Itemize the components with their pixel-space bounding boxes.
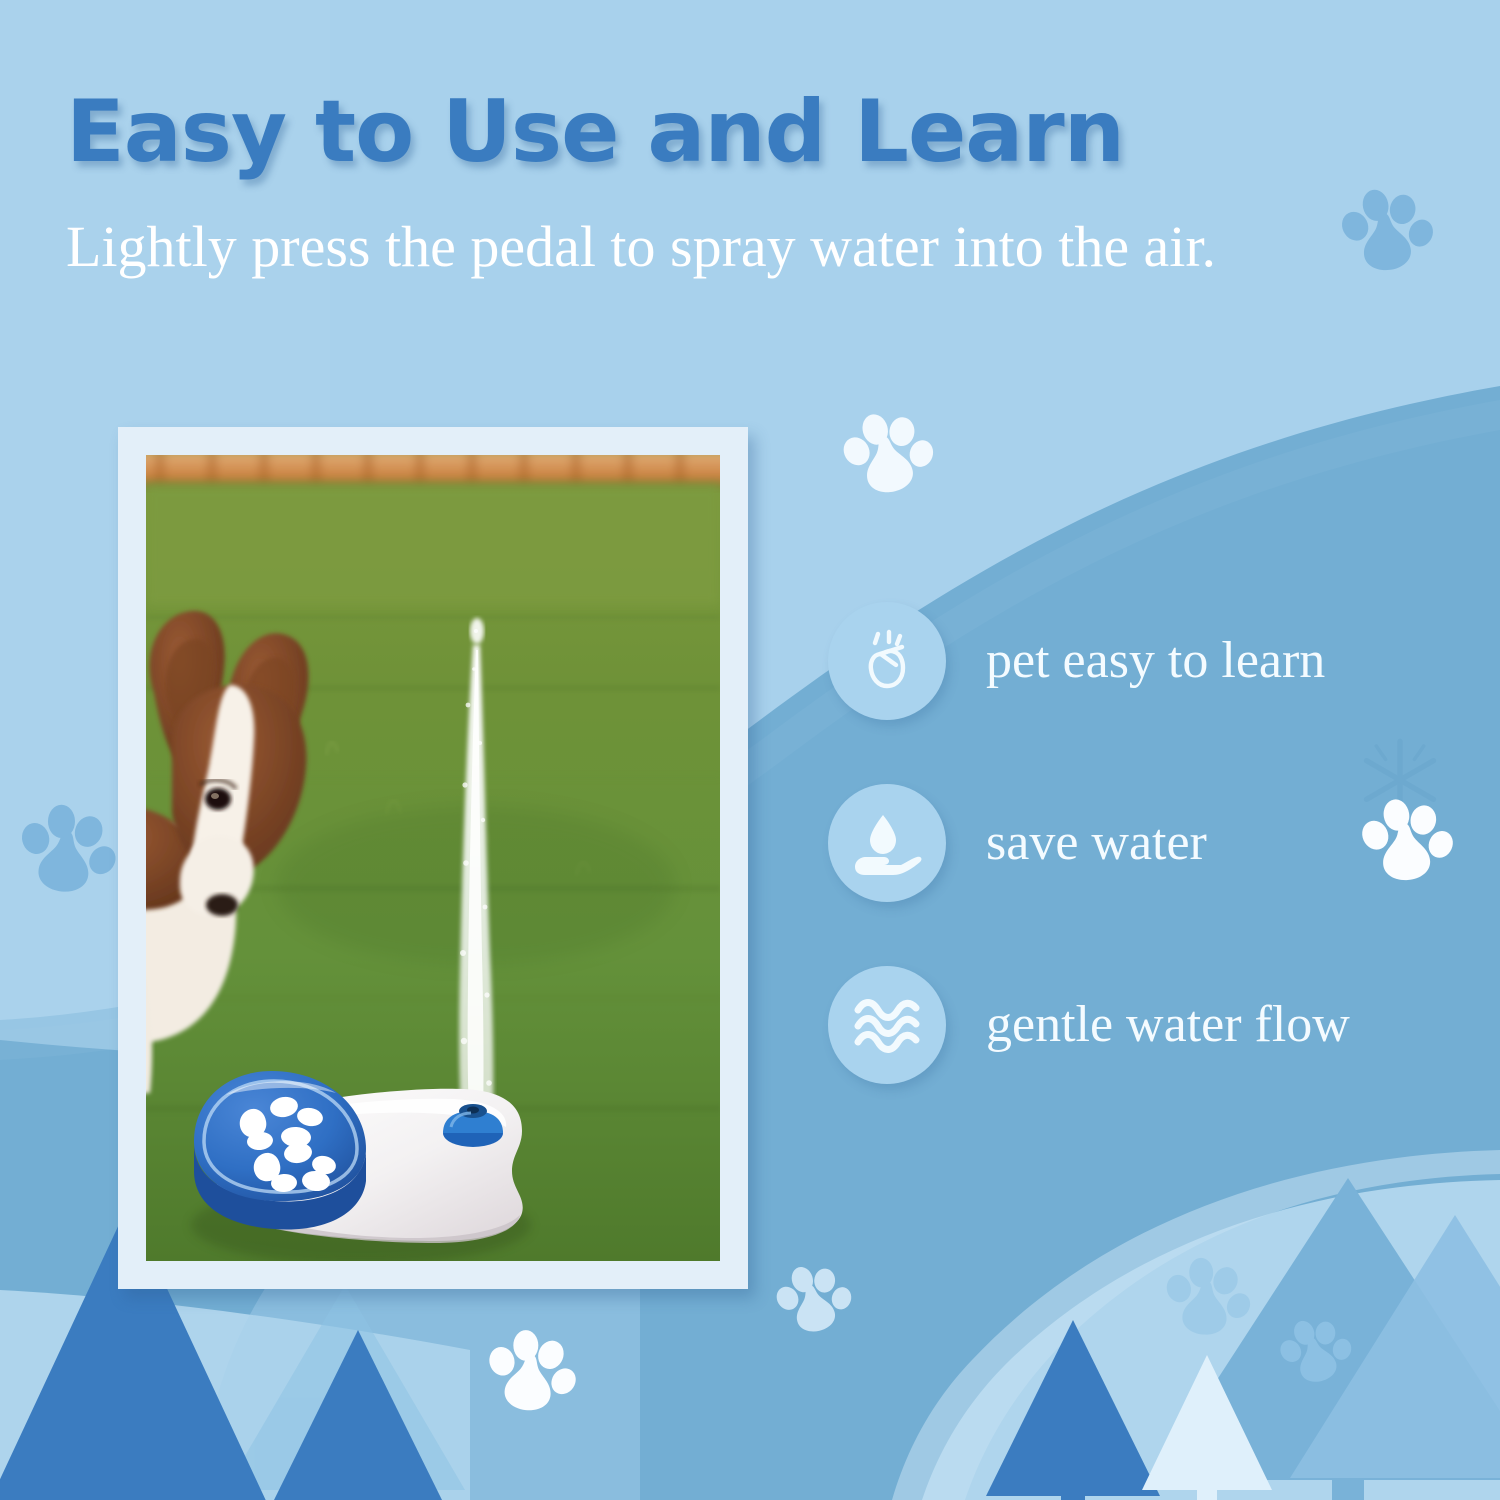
tap-hand-icon-circle	[828, 602, 946, 720]
photo-scene	[146, 455, 720, 1261]
tree-group-right	[986, 1178, 1500, 1500]
tree-5	[1142, 1355, 1272, 1500]
tree-2	[225, 1285, 465, 1500]
hill-arc-secondary	[892, 1150, 1500, 1500]
paw-print-bottom-right	[1160, 1254, 1258, 1338]
tree-7	[1290, 1215, 1500, 1478]
page-subtitle: Lightly press the pedal to spray water i…	[66, 212, 1296, 283]
feature-item-pet-easy-to-learn: pet easy to learn	[828, 592, 1488, 730]
page-title: Easy to Use and Learn	[66, 82, 1124, 182]
paw-print-bottom-left	[481, 1325, 585, 1416]
water-waves-icon-circle	[828, 966, 946, 1084]
fence	[146, 455, 720, 489]
hill-arc	[922, 1180, 1500, 1500]
paw-print-top-right	[1335, 182, 1442, 274]
product-fountain	[191, 1071, 531, 1261]
paw-print-far-bottom-right	[1271, 1309, 1361, 1390]
tree-3	[274, 1330, 442, 1500]
paw-print-left-edge	[12, 799, 125, 897]
water-drop-hand-icon-circle	[828, 784, 946, 902]
water-waves-icon	[850, 988, 924, 1062]
feature-item-save-water: save water	[828, 774, 1488, 912]
paw-print-bottom-center	[768, 1256, 861, 1339]
tree-4	[986, 1320, 1160, 1500]
feature-label-gentle-water-flow: gentle water flow	[986, 999, 1350, 1051]
feature-list: pet easy to learn save water	[828, 592, 1488, 1138]
tap-hand-icon	[850, 624, 924, 698]
bottom-light-band	[0, 1290, 470, 1500]
product-photo	[146, 455, 720, 1261]
product-infographic-poster: Easy to Use and Learn Lightly press the …	[0, 0, 1500, 1500]
feature-label-save-water: save water	[986, 817, 1207, 869]
product-photo-frame	[118, 427, 748, 1289]
paw-print-upper-mid	[834, 403, 943, 499]
water-drop-hand-icon	[849, 805, 925, 881]
feature-item-gentle-water-flow: gentle water flow	[828, 956, 1488, 1094]
feature-label-pet-easy-to-learn: pet easy to learn	[986, 635, 1325, 687]
tree-6	[1152, 1178, 1500, 1500]
